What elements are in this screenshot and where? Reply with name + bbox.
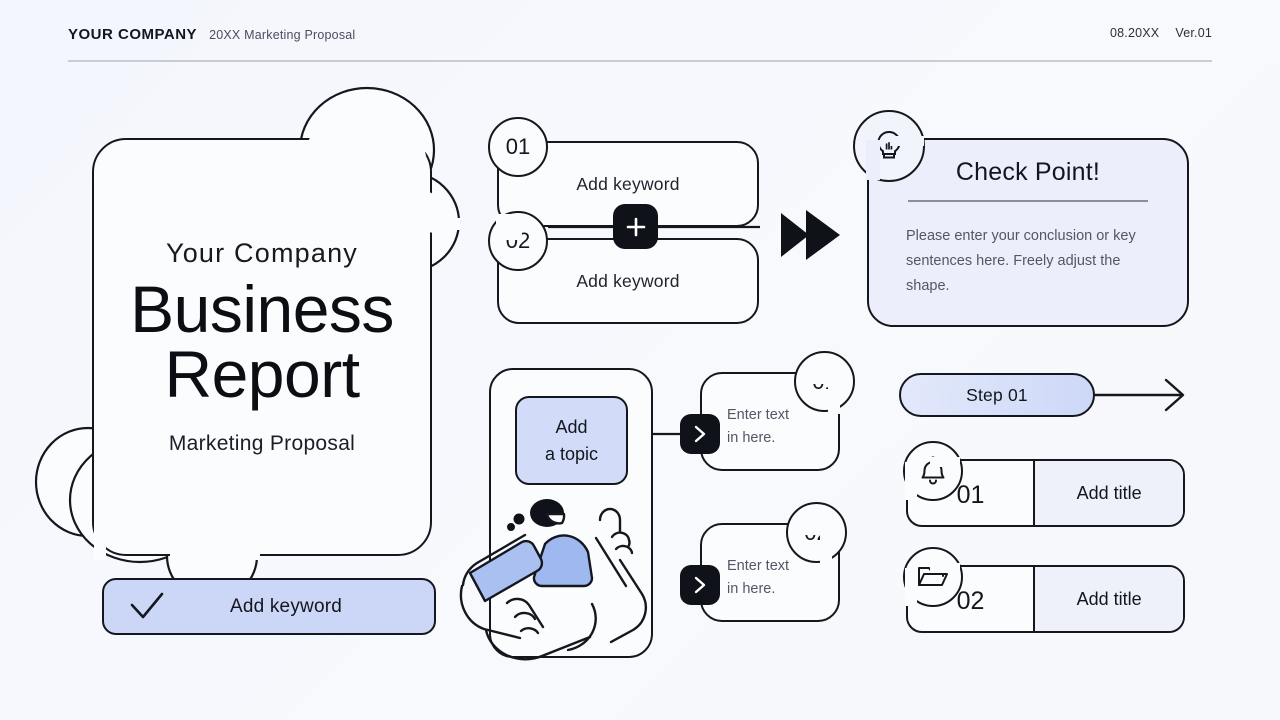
entry-text-02: Enter text in here. [700,555,840,602]
hero-subtitle: Marketing Proposal [169,432,355,456]
keyword-label-01: Add keyword [576,174,679,195]
checkpoint-body: Please enter your conclusion or key sent… [906,224,1154,299]
header-divider [68,60,1212,62]
hero-add-keyword-button[interactable]: Add keyword [102,578,436,635]
hero-eyebrow: Your Company [166,238,358,269]
entry-text-01-line1: Enter text [727,404,840,427]
bell-icon [903,441,963,501]
hero-title-line1: Business [130,277,394,342]
company-name: YOUR COMPANY [68,26,197,43]
checkpoint-title: Check Point! [867,158,1189,187]
header-left-group: YOUR COMPANY 20XX Marketing Proposal [68,26,355,43]
keyword-badge-01: 01 [488,117,548,177]
add-keyword-plus-button[interactable] [613,204,658,249]
hero-text-block: Your Company Business Report Marketing P… [92,138,432,556]
plus-icon [625,216,647,238]
add-a-topic-chip[interactable]: Add a topic [515,396,628,485]
step-pill[interactable]: Step 01 [899,373,1095,417]
entry-badge-01: 01 [794,351,855,412]
folder-icon [903,547,963,607]
header-date: 08.20XX [1110,26,1159,40]
entry-text-01: Enter text in here. [700,404,840,451]
keyword-label-02: Add keyword [576,271,679,292]
keyword-badge-02: 02 [488,211,548,271]
header-subtitle: 20XX Marketing Proposal [209,28,355,42]
topic-chip-line1: Add [555,414,587,440]
chevron-right-icon [692,424,708,444]
entry-text-02-line2: in here. [727,578,840,601]
hero-title-line2: Report [164,342,359,407]
entry-chevron-button-01[interactable] [680,414,720,454]
entry-text-02-line1: Enter text [727,555,840,578]
topic-chip-line2: a topic [545,441,598,467]
hero-add-keyword-label: Add keyword [190,596,434,618]
check-icon [104,590,190,624]
entry-text-01-line2: in here. [727,427,840,450]
checkpoint-divider [908,200,1148,202]
entry-badge-02: 02 [786,502,847,563]
header-version: Ver.01 [1175,26,1212,40]
chevron-right-icon [692,575,708,595]
title-row-title-02: Add title [1035,567,1183,631]
header-right-group: 08.20XX Ver.01 [1110,26,1212,40]
slide-canvas: YOUR COMPANY 20XX Marketing Proposal 08.… [0,0,1280,720]
entry-chevron-button-02[interactable] [680,565,720,605]
title-row-title-01: Add title [1035,461,1183,525]
